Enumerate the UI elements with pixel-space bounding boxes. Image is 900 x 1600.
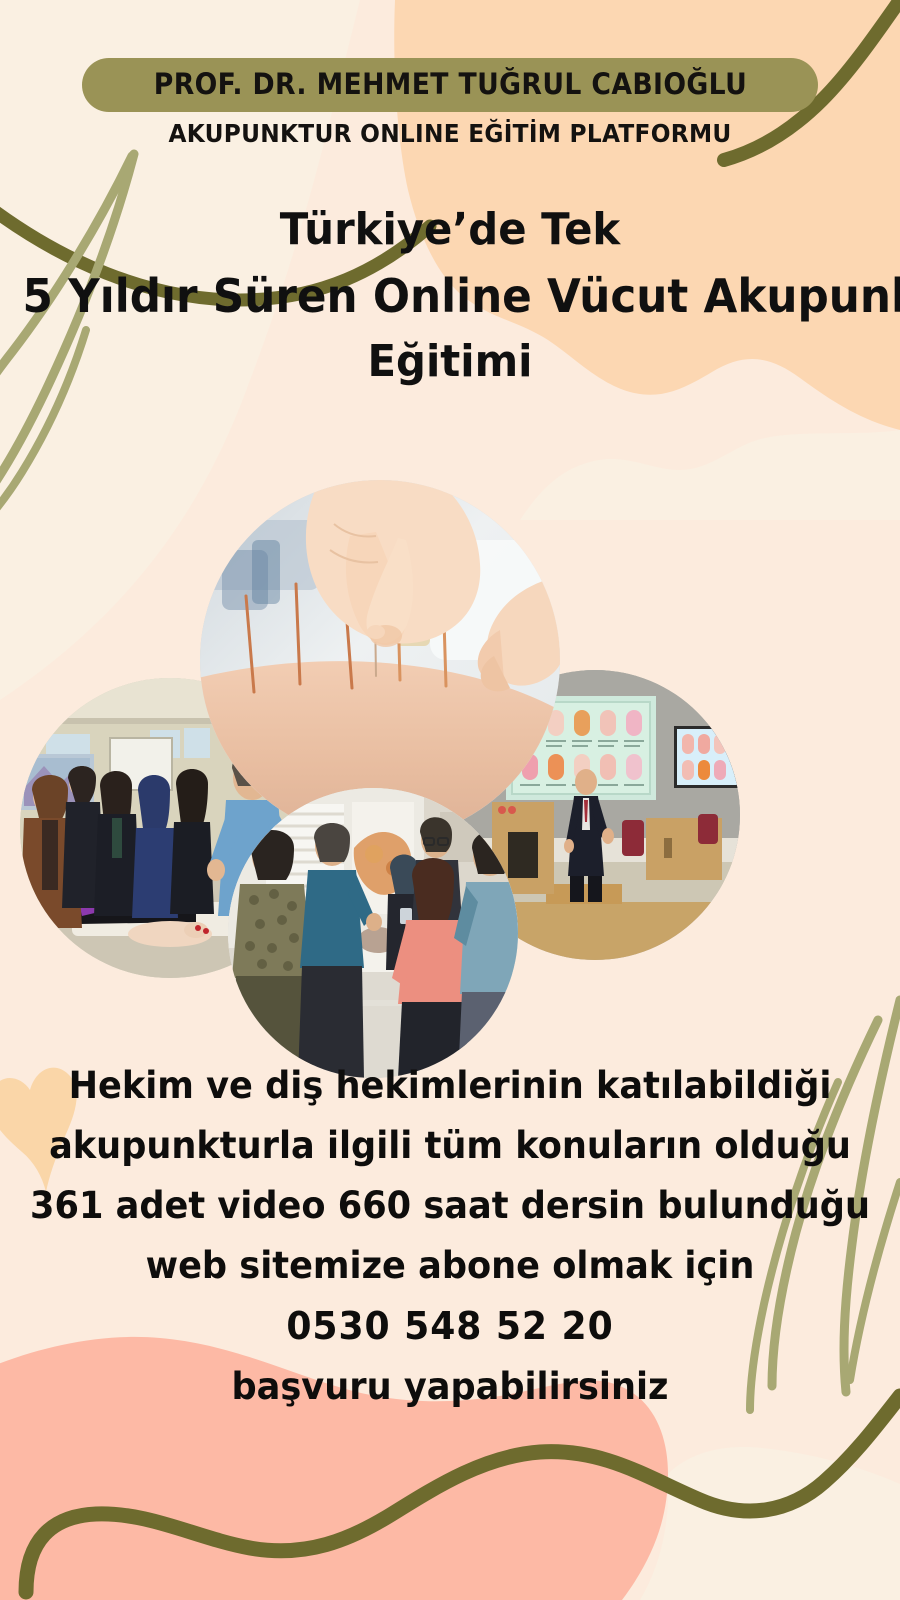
contact-phone-number[interactable]: 0530 548 52 20 <box>23 1296 878 1358</box>
photo-collage <box>0 470 900 1070</box>
body-line-3: 361 adet video 660 saat dersin bulunduğu <box>23 1176 878 1236</box>
body-line-1: Hekim ve diş hekimlerinin katılabildiği <box>23 1056 878 1116</box>
photo-practice-session <box>228 788 518 1078</box>
headline-line-2: 5 Yıldır Süren Online Vücut Akupunktur <box>23 263 878 331</box>
cream-patch-bottom-right <box>640 1447 900 1600</box>
headline-line-1: Türkiye’de Tek <box>23 198 878 263</box>
body-line-2: akupunkturla ilgili tüm konuların olduğu <box>23 1116 878 1176</box>
closing-line: başvuru yapabilirsiniz <box>23 1357 878 1417</box>
doctor-name: PROF. DR. MEHMET TUĞRUL CABIOĞLU <box>153 67 746 101</box>
headline-line-3: Eğitimi <box>23 330 878 395</box>
photo-practice-session-image <box>228 788 518 1078</box>
platform-name: AKUPUNKTUR ONLINE EĞİTİM PLATFORMU <box>32 119 869 148</box>
body-copy-block: Hekim ve diş hekimlerinin katılabildiği … <box>0 1056 900 1417</box>
doctor-name-pill: PROF. DR. MEHMET TUĞRUL CABIOĞLU <box>82 58 819 112</box>
poster-canvas: PROF. DR. MEHMET TUĞRUL CABIOĞLU AKUPUNK… <box>0 0 900 1600</box>
body-line-4: web sitemize abone olmak için <box>23 1236 878 1296</box>
photo-acupuncture-needles <box>200 480 560 840</box>
photo-acupuncture-needles-image <box>200 480 560 840</box>
poster-header: PROF. DR. MEHMET TUĞRUL CABIOĞLU AKUPUNK… <box>0 58 900 148</box>
olive-wave-bottom <box>26 1396 900 1592</box>
headline-block: Türkiye’de Tek 5 Yıldır Süren Online Vüc… <box>0 198 900 395</box>
